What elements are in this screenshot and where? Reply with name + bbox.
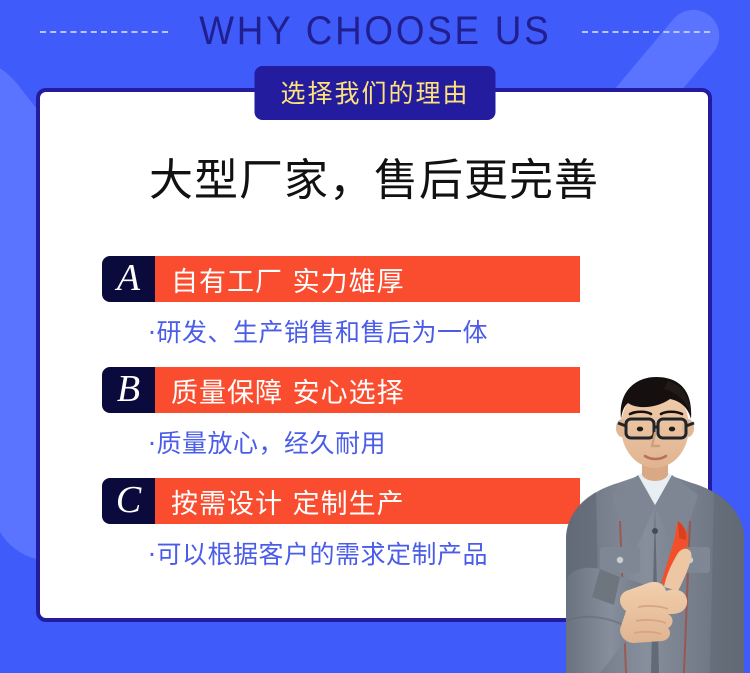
feature-bar-c: C 按需设计 定制生产 [102, 478, 580, 524]
dashed-rule-right [582, 31, 710, 33]
feature-title-c: 按需设计 定制生产 [155, 478, 580, 524]
feature-letter-c: C [116, 481, 141, 522]
feature-bar-b: B 质量保障 安心选择 [102, 367, 580, 413]
feature-bar-a: A 自有工厂 实力雄厚 [102, 256, 580, 302]
header: WHY CHOOSE US [0, 0, 750, 62]
feature-item-a: A 自有工厂 实力雄厚 ·研发、生产销售和售后为一体 [102, 256, 662, 361]
feature-letter-badge-a: A [102, 256, 155, 302]
feature-letter-badge-b: B [102, 367, 155, 413]
subtitle-badge: 选择我们的理由 [254, 66, 495, 120]
feature-subtitle-a: ·研发、生产销售和售后为一体 [102, 302, 662, 361]
why-choose-us-banner: WHY CHOOSE US 选择我们的理由 大型厂家，售后更完善 A 自有工厂 … [0, 0, 750, 673]
feature-letter-a: A [117, 259, 140, 300]
feature-letter-badge-c: C [102, 478, 155, 524]
feature-title-a: 自有工厂 实力雄厚 [155, 256, 580, 302]
feature-letter-b: B [117, 370, 140, 411]
feature-title-b: 质量保障 安心选择 [155, 367, 580, 413]
worker-photo [560, 371, 750, 673]
dashed-rule-left [40, 31, 168, 33]
page-title: WHY CHOOSE US [199, 9, 551, 54]
card-heading: 大型厂家，售后更完善 [40, 144, 708, 208]
